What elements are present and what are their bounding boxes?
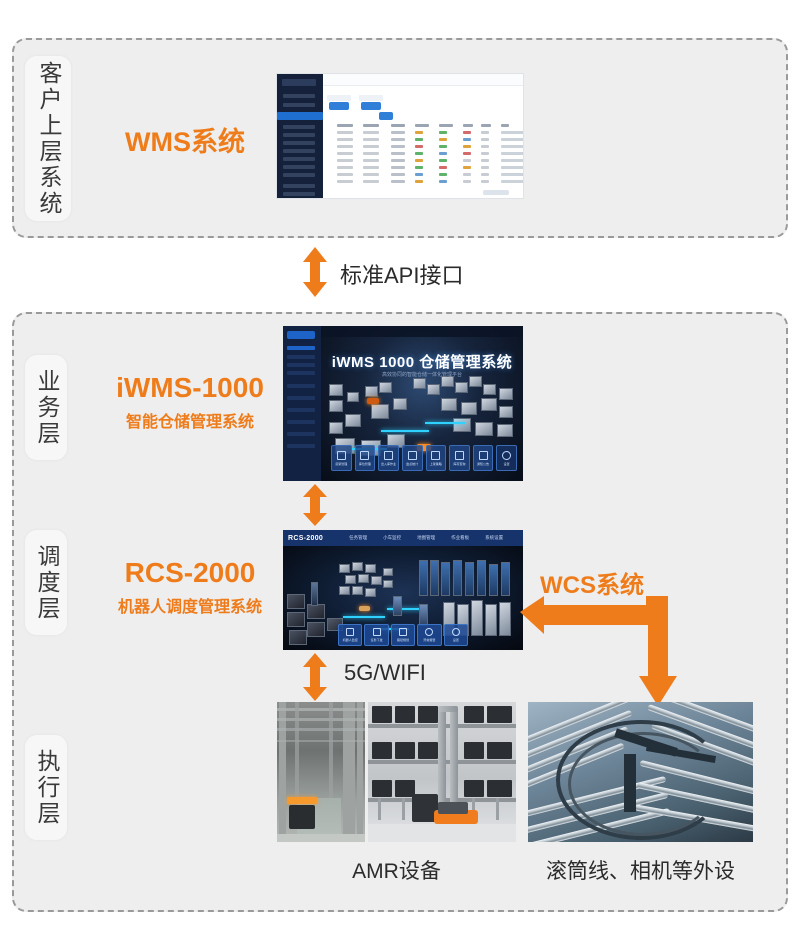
iwms-menu-item [287,396,315,400]
table-row [329,173,515,176]
screenshot-wms-dashboard[interactable] [276,73,524,199]
gear-icon [452,628,460,636]
wms-action-button [361,102,381,110]
iwms-hero-stage: iWMS 1000 仓储管理系统 高效协同的智能仓储一体化管理平台 货架管理 库… [321,326,523,481]
wms-pagination [483,190,509,195]
inbound-icon [384,451,393,460]
caption-amr: AMR设备 [277,855,516,885]
wms-menu-item [283,125,315,129]
bell-icon [479,451,488,460]
wms-menu-item [283,184,315,188]
task-icon [373,628,381,636]
rcs-menu-item-3[interactable]: 作业看板 [451,535,469,541]
arrow-wcs-elbow [520,580,685,710]
rcs-bottom-icon-3[interactable]: 异常报警 [417,624,441,646]
iwms-menu-item [287,384,315,388]
iwms-topbar [321,326,523,337]
iwms-icon-row[interactable]: 货架管理 库位管理 出入库作业 盘点统计 上架策略 [331,445,517,471]
wms-menu-item [283,192,315,196]
wms-sidebar [277,74,323,198]
wms-menu-item [283,103,315,107]
rcs-bottom-icon-4[interactable]: 设置 [444,624,468,646]
table-row [329,131,515,134]
iwms-nav-icon-7[interactable]: 设置 [496,445,517,471]
system-subtitle-iwms: 智能仓储管理系统 [90,408,290,432]
layer-badge-business: 业务层 [25,355,67,460]
iwms-nav-icon-4[interactable]: 上架策略 [426,445,447,471]
rcs-icon-row[interactable]: 机器人监控 任务下发 路径规划 异常报警 设置 [338,624,468,646]
system-subtitle-rcs: 机器人调度管理系统 [90,593,290,617]
wms-action-button [379,112,393,120]
rcs-bottom-icon-0[interactable]: 机器人监控 [338,624,362,646]
iwms-nav-icon-6[interactable]: 通知公告 [473,445,494,471]
iwms-nav-icon-3[interactable]: 盘点统计 [402,445,423,471]
rcs-menu-item-4[interactable]: 系统设置 [485,535,503,541]
wms-menu-item [283,133,315,137]
iwms-menu-item [287,363,315,367]
wms-menu-item [283,165,315,169]
iwms-hero-subtitle: 高效协同的智能仓储一体化管理平台 [321,371,523,378]
rcs-bottom-icon-1[interactable]: 任务下发 [364,624,388,646]
grid-icon [360,451,369,460]
rcs-menu-item-2[interactable]: 地图管理 [417,535,435,541]
iwms-sidebar [283,326,321,481]
wms-menu-item [283,173,315,177]
system-title-rcs: RCS-2000 [90,557,290,589]
wms-tabs [327,88,387,95]
layer-badge-schedule: 调度层 [25,530,67,635]
chart-icon [408,451,417,460]
wms-logo [282,79,316,86]
iwms-menu-item [287,355,315,359]
wms-tab [327,95,351,101]
caption-peripheral: 滚筒线、相机等外设 [528,855,753,885]
iwms-menu-item [287,444,315,448]
table-row [329,159,515,162]
wms-menu-item [283,141,315,145]
connector-label-api: 标准API接口 [340,258,463,290]
rcs-menu-item-0[interactable]: 任务管理 [349,535,367,541]
wms-content [323,74,523,198]
iwms-menu-item-active [287,346,315,350]
screenshot-iwms-hero[interactable]: iWMS 1000 仓储管理系统 高效协同的智能仓储一体化管理平台 货架管理 库… [283,326,523,481]
route-icon [399,628,407,636]
arrow-rcs-amr-bidirectional [302,653,328,701]
rcs-bottom-icon-2[interactable]: 路径规划 [391,624,415,646]
rcs-menu[interactable]: 任务管理 小车监控 地图管理 作业看板 系统设置 [349,535,503,541]
system-title-iwms: iWMS-1000 [90,372,290,404]
home-icon [455,451,464,460]
iwms-nav-icon-2[interactable]: 出入库作业 [378,445,399,471]
wms-topbar [323,74,523,86]
arrow-iwms-rcs-bidirectional [302,484,328,526]
rcs-logo: RCS-2000 [288,535,323,542]
wms-menu-item [283,157,315,161]
wms-menu-item [283,149,315,153]
connector-label-5g: 5G/WIFI [344,660,426,686]
screenshot-rcs-console[interactable]: RCS-2000 任务管理 小车监控 地图管理 作业看板 系统设置 [283,530,523,650]
robot-icon [346,628,354,636]
table-row [329,180,515,183]
table-row [329,138,515,141]
iwms-menu-item [287,408,315,412]
iwms-nav-icon-1[interactable]: 库位管理 [355,445,376,471]
iwms-menu-item [287,432,315,436]
gear-icon [502,451,511,460]
iwms-logo [287,331,315,339]
iwms-nav-icon-0[interactable]: 货架管理 [331,445,352,471]
wms-action-button [329,102,349,110]
photo-amr-robot [368,702,516,842]
wms-menu-item [283,94,315,98]
iwms-menu-item [287,371,315,375]
iwms-menu-item [287,420,315,424]
alert-icon [425,628,433,636]
rcs-3d-stage: 机器人监控 任务下发 路径规划 异常报警 设置 [283,546,523,650]
rcs-menu-item-1[interactable]: 小车监控 [383,535,401,541]
wms-menu-item-active [277,112,323,120]
layer-badge-execute: 执行层 [25,735,67,840]
iwms-hero-title: iWMS 1000 仓储管理系统 [321,351,523,372]
architecture-diagram: 客户上层系统 WMS系统 [0,0,800,930]
rcs-navbar[interactable]: RCS-2000 任务管理 小车监控 地图管理 作业看板 系统设置 [283,530,523,546]
layer-badge-customer: 客户上层系统 [25,56,71,221]
photo-roller-conveyor [528,702,753,842]
table-row [329,166,515,169]
iwms-nav-icon-5[interactable]: 库存查询 [449,445,470,471]
document-icon [337,451,346,460]
strategy-icon [431,451,440,460]
arrow-api-bidirectional [302,247,328,297]
system-title-wms: WMS系统 [110,120,260,159]
table-row [329,145,515,148]
wms-tab [359,95,383,101]
table-row [329,152,515,155]
photo-amr-aisle [277,702,365,842]
wms-table-header [329,124,515,127]
